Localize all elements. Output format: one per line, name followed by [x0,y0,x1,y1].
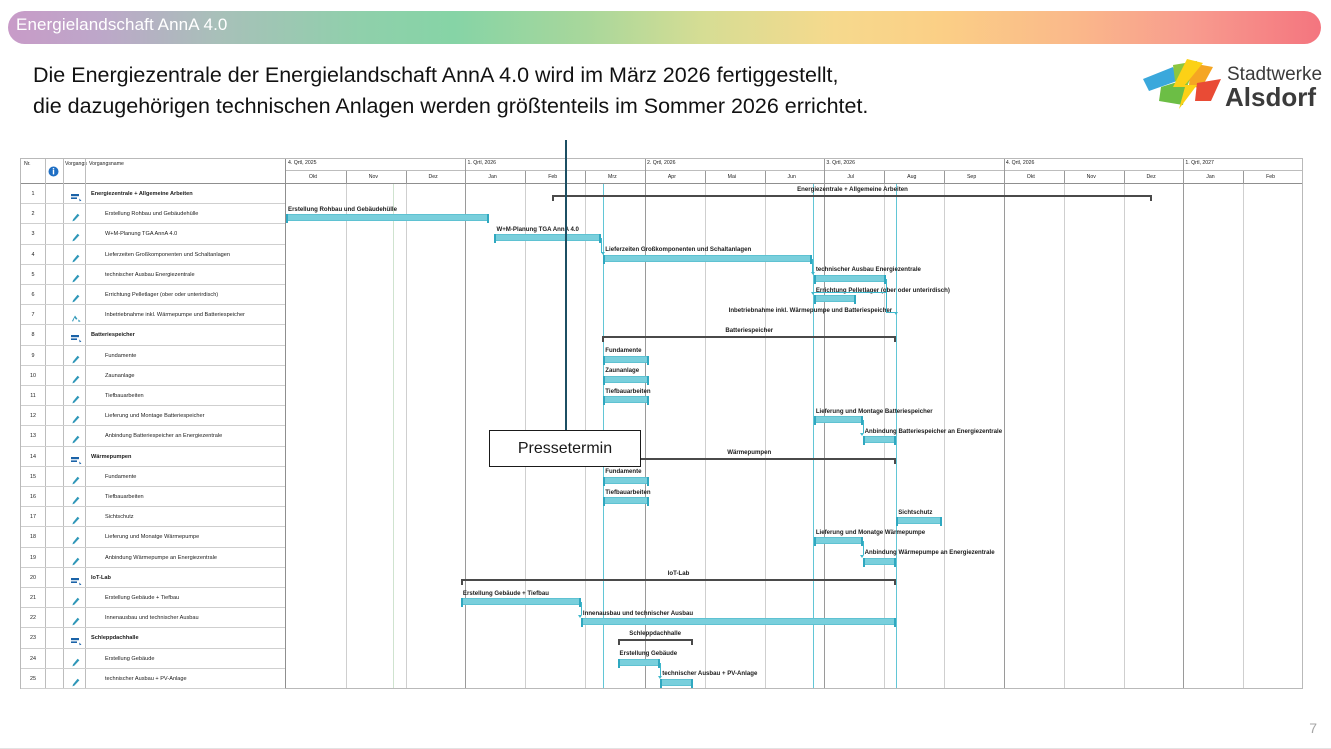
task-bar[interactable] [603,497,649,504]
table-row[interactable]: 24Erstellung Gebäude [21,649,285,669]
dependency-arrow-icon [658,676,662,679]
svg-text:Alsdorf: Alsdorf [1225,82,1316,112]
stadtwerke-alsdorf-logo: Stadtwerke Alsdorf [1139,57,1325,115]
row-number: 15 [21,474,45,480]
gantt-chart[interactable]: Nr. Vorgangs Vorgangsname 1Energiezentra… [20,158,1303,689]
quarter-label: 1. Qrtl, 2027 [1185,160,1214,166]
row-number: 17 [21,514,45,520]
row-number: 6 [21,292,45,298]
dependency-arrow-icon [811,292,815,295]
dependency-connector [660,663,661,676]
row-number: 12 [21,413,45,419]
row-number: 5 [21,272,45,278]
row-number: 19 [21,555,45,561]
task-bar[interactable] [863,558,897,565]
row-number: 14 [21,454,45,460]
table-row[interactable]: 12Lieferung und Montage Batteriespeicher [21,406,285,426]
row-number: 4 [21,252,45,258]
task-name-cell: Lieferzeiten Großkomponenten und Schalta… [105,252,230,258]
month-label: Mai [728,174,736,180]
column-header-mode: Vorgangs [65,161,87,167]
table-row[interactable]: 8Batteriespeicher [21,325,285,345]
month-gridline [346,184,347,688]
row-number: 2 [21,211,45,217]
month-label: Jan [488,174,496,180]
month-label: Nov [369,174,378,180]
row-number: 16 [21,494,45,500]
month-label: Aug [907,174,916,180]
task-name-cell: Innenausbau und technischer Ausbau [105,615,199,621]
quarter-gridline [465,159,466,688]
task-name-cell: Anbindung Batteriespeicher an Energiezen… [105,433,222,439]
task-bar[interactable] [660,679,693,686]
task-bar[interactable] [814,537,863,544]
table-row[interactable]: 1Energiezentrale + Allgemeine Arbeiten [21,184,285,204]
task-bar[interactable] [603,255,811,262]
row-number: 7 [21,312,45,318]
pressetermin-marker-line [565,140,567,432]
month-label: Sep [967,174,976,180]
logo-mark-icon: Stadtwerke Alsdorf [1139,57,1325,115]
task-name-cell: technischer Ausbau + PV-Anlage [105,676,187,682]
row-number: 18 [21,534,45,540]
month-gridline [1243,184,1244,688]
row-number: 13 [21,433,45,439]
month-label: Apr [668,174,676,180]
quarter-gridline [824,159,825,688]
task-bar-label: Tiefbauarbeiten [605,388,650,395]
month-tick [1064,171,1065,184]
dependency-connector [812,259,813,272]
row-number: 25 [21,676,45,682]
highlight-gridline [813,184,814,688]
task-name-cell: Wärmepumpen [91,454,131,460]
task-bar[interactable] [618,659,661,666]
quarter-gridline [1004,159,1005,688]
task-name-cell: Schleppdachhalle [91,635,139,641]
quarter-gridline [1183,159,1184,688]
table-row[interactable]: 9Fundamente [21,346,285,366]
month-label: Dez [1146,174,1155,180]
task-name-cell: Lieferung und Monatge Wärmepumpe [105,534,199,540]
task-name-cell: Anbindung Wärmepumpe an Energiezentrale [105,555,217,561]
month-tick [346,171,347,184]
table-row[interactable]: 5technischer Ausbau Energiezentrale [21,265,285,285]
page-number: 7 [1309,720,1317,736]
dependency-connector [581,602,582,615]
task-name-cell: technischer Ausbau Energiezentrale [105,272,195,278]
quarter-label: 3. Qrtl, 2026 [826,160,855,166]
task-name-cell: Errichtung Pelletlager (ober oder unteri… [105,292,218,298]
gantt-timeline-pane[interactable]: 4. Qrtl, 2025OktNovDez1. Qrtl, 2026JanFe… [286,159,1302,688]
task-bar[interactable] [286,214,489,221]
month-label: Jun [788,174,796,180]
quarter-label: 4. Qrtl, 2025 [288,160,317,166]
month-label: Jan [1206,174,1214,180]
banner-title: Energielandschaft AnnA 4.0 [16,15,227,35]
month-tick [705,171,706,184]
dependency-connector [863,541,864,554]
month-label: Feb [1266,174,1275,180]
row-number: 10 [21,373,45,379]
table-row[interactable]: 17Sichtschutz [21,507,285,527]
task-bar[interactable] [581,618,896,625]
headline-line-2: die dazugehörigen technischen Anlagen we… [33,91,1103,122]
task-bar-label: Zaunanlage [605,367,639,374]
task-bar[interactable] [461,598,581,605]
task-bar[interactable] [603,477,649,484]
task-bar[interactable] [863,436,897,443]
task-bar[interactable] [896,517,942,524]
table-row[interactable]: 15Fundamente [21,467,285,487]
month-label: Mrz [608,174,617,180]
row-number: 24 [21,656,45,662]
dependency-arrow-icon [578,615,582,618]
month-label: Nov [1087,174,1096,180]
table-row[interactable]: 6Errichtung Pelletlager (ober oder unter… [21,285,285,305]
column-header-nr: Nr. [24,161,31,167]
task-name-cell: Zaunanlage [105,373,135,379]
row-number: 11 [21,393,45,399]
column-header-name: Vorgangsname [89,161,124,167]
task-bar-label: Tiefbauarbeiten [605,489,650,496]
task-name-cell: Sichtschutz [105,514,134,520]
row-number: 20 [21,575,45,581]
month-tick [944,171,945,184]
task-name-cell: Lieferung und Montage Batteriespeicher [105,413,205,419]
task-bar-label: technischer Ausbau + PV-Anlage [662,670,757,677]
row-number: 22 [21,615,45,621]
month-tick [1243,171,1244,184]
table-row[interactable]: 4Lieferzeiten Großkomponenten und Schalt… [21,245,285,265]
table-row[interactable]: 3W+M-Planung TGA AnnA 4.0 [21,224,285,244]
task-name-cell: Inbetriebnahme inkl. Wärmepumpe und Batt… [105,312,245,318]
task-bar[interactable] [603,376,649,383]
quarter-label: 2. Qrtl, 2026 [647,160,676,166]
month-gridline [944,184,945,688]
task-bar-label: Anbindung Wärmepumpe an Energiezentrale [865,549,995,556]
task-name-cell: IoT-Lab [91,575,111,581]
month-tick [585,171,586,184]
task-name-cell: Erstellung Gebäude + Tiefbau [105,595,179,601]
month-gridline [406,184,407,688]
month-label: Okt [309,174,317,180]
headline-line-1: Die Energiezentrale der Energielandschaf… [33,63,839,87]
task-bar-label: Fundamente [605,468,641,475]
dependency-arrow-icon [811,272,815,275]
task-bar-label: Erstellung Rohbau und Gebäudehülle [288,206,397,213]
task-bar[interactable] [814,275,886,282]
table-row[interactable]: 14Wärmepumpen [21,447,285,467]
table-row[interactable]: 25technischer Ausbau + PV-Anlage [21,669,285,689]
dependency-arrow-icon [894,312,898,315]
dependency-connector [814,292,886,293]
task-bar-label: Innenausbau und technischer Ausbau [583,610,693,617]
month-label: Dez [429,174,438,180]
task-name-cell: Fundamente [105,353,136,359]
dependency-connector [601,238,602,251]
summary-bar-label: Batteriespeicher [725,327,773,334]
pressetermin-callout[interactable]: Pressetermin [489,430,641,467]
highlight-gridline [896,184,897,688]
task-name-cell: Erstellung Gebäude [105,656,154,662]
table-row[interactable]: 22Innenausbau und technischer Ausbau [21,608,285,628]
month-label: Jul [847,174,854,180]
table-row[interactable]: 2Erstellung Rohbau und Gebäudehülle [21,204,285,224]
summary-bar[interactable] [602,336,896,342]
month-label: Feb [548,174,557,180]
task-bar-label: Erstellung Gebäude [620,650,678,657]
quarter-label: 1. Qrtl, 2026 [467,160,496,166]
task-table-pane[interactable]: Nr. Vorgangs Vorgangsname 1Energiezentra… [21,159,286,688]
table-row[interactable]: 16Tiefbauarbeiten [21,487,285,507]
task-bar-label: Lieferzeiten Großkomponenten und Schalta… [605,246,751,253]
month-tick [1124,171,1125,184]
row-number: 8 [21,332,45,338]
dependency-arrow-icon [860,555,864,558]
summary-bar[interactable] [461,579,896,585]
task-bar-label: Inbetriebnahme inkl. Wärmepumpe und Batt… [729,307,893,314]
task-mode-auto-icon [69,674,83,692]
month-label: Okt [1027,174,1035,180]
row-number: 1 [21,191,45,197]
summary-bar-label: IoT-Lab [668,570,690,577]
task-bar[interactable] [814,416,863,423]
month-tick [765,171,766,184]
dependency-arrow-icon [860,433,864,436]
summary-bar[interactable] [618,639,693,645]
table-row[interactable]: 7Inbetriebnahme inkl. Wärmepumpe und Bat… [21,305,285,325]
row-number: 3 [21,231,45,237]
month-tick [884,171,885,184]
info-icon [48,166,59,177]
task-bar[interactable] [814,295,856,302]
task-name-cell: Fundamente [105,474,136,480]
summary-bar-label: Energiezentrale + Allgemeine Arbeiten [797,186,908,193]
quarter-label: 4. Qrtl, 2026 [1006,160,1035,166]
timeline-header: 4. Qrtl, 2025OktNovDez1. Qrtl, 2026JanFe… [286,159,1302,184]
page-headline: Die Energiezentrale der Energielandschaf… [33,60,1103,122]
task-bar[interactable] [603,396,649,403]
table-row[interactable]: 18Lieferung und Monatge Wärmepumpe [21,527,285,547]
timeline-quarter-band [286,159,1302,171]
task-bar-label: Erstellung Gebäude + Tiefbau [463,590,549,597]
table-header-row: Nr. Vorgangs Vorgangsname [21,159,285,184]
task-name-cell: Energiezentrale + Allgemeine Arbeiten [91,191,193,197]
task-bar[interactable] [494,234,601,241]
month-tick [525,171,526,184]
table-row[interactable]: 21Erstellung Gebäude + Tiefbau [21,588,285,608]
table-row[interactable]: 13Anbindung Batteriespeicher an Energiez… [21,426,285,446]
month-tick [406,171,407,184]
task-bar-label: Anbindung Batteriespeicher an Energiezen… [865,428,1002,435]
task-bar-label: Lieferung und Monatge Wärmepumpe [816,529,925,536]
row-number: 9 [21,353,45,359]
month-gridline [1064,184,1065,688]
dependency-connector [886,279,887,312]
month-gridline [1124,184,1125,688]
summary-bar[interactable] [602,458,896,464]
task-name-cell: W+M-Planung TGA AnnA 4.0 [105,231,177,237]
task-name-cell: Erstellung Rohbau und Gebäudehülle [105,211,198,217]
table-row[interactable]: 23Schleppdachhalle [21,628,285,648]
task-bar-label: Sichtschutz [898,509,932,516]
task-name-cell: Batteriespeicher [91,332,135,338]
summary-bar[interactable] [552,195,1152,201]
dependency-connector [863,420,864,433]
row-number: 23 [21,635,45,641]
table-row[interactable]: 19Anbindung Wärmepumpe an Energiezentral… [21,548,285,568]
task-bar-label: Fundamente [605,347,641,354]
task-bar-label: technischer Ausbau Energiezentrale [816,266,921,273]
task-name-cell: Tiefbauarbeiten [105,494,144,500]
task-name-cell: Tiefbauarbeiten [105,393,144,399]
task-bar[interactable] [603,356,649,363]
table-row[interactable]: 20IoT-Lab [21,568,285,588]
dependency-arrow-icon [601,252,605,255]
row-number: 21 [21,595,45,601]
summary-bar-label: Schleppdachhalle [629,630,681,637]
table-row[interactable]: 10Zaunanlage [21,366,285,386]
table-row[interactable]: 11Tiefbauarbeiten [21,386,285,406]
task-bar-label: Lieferung und Montage Batteriespeicher [816,408,933,415]
highlight-gridline [393,184,394,688]
quarter-gridline [645,159,646,688]
summary-bar-label: Wärmepumpen [727,449,771,456]
